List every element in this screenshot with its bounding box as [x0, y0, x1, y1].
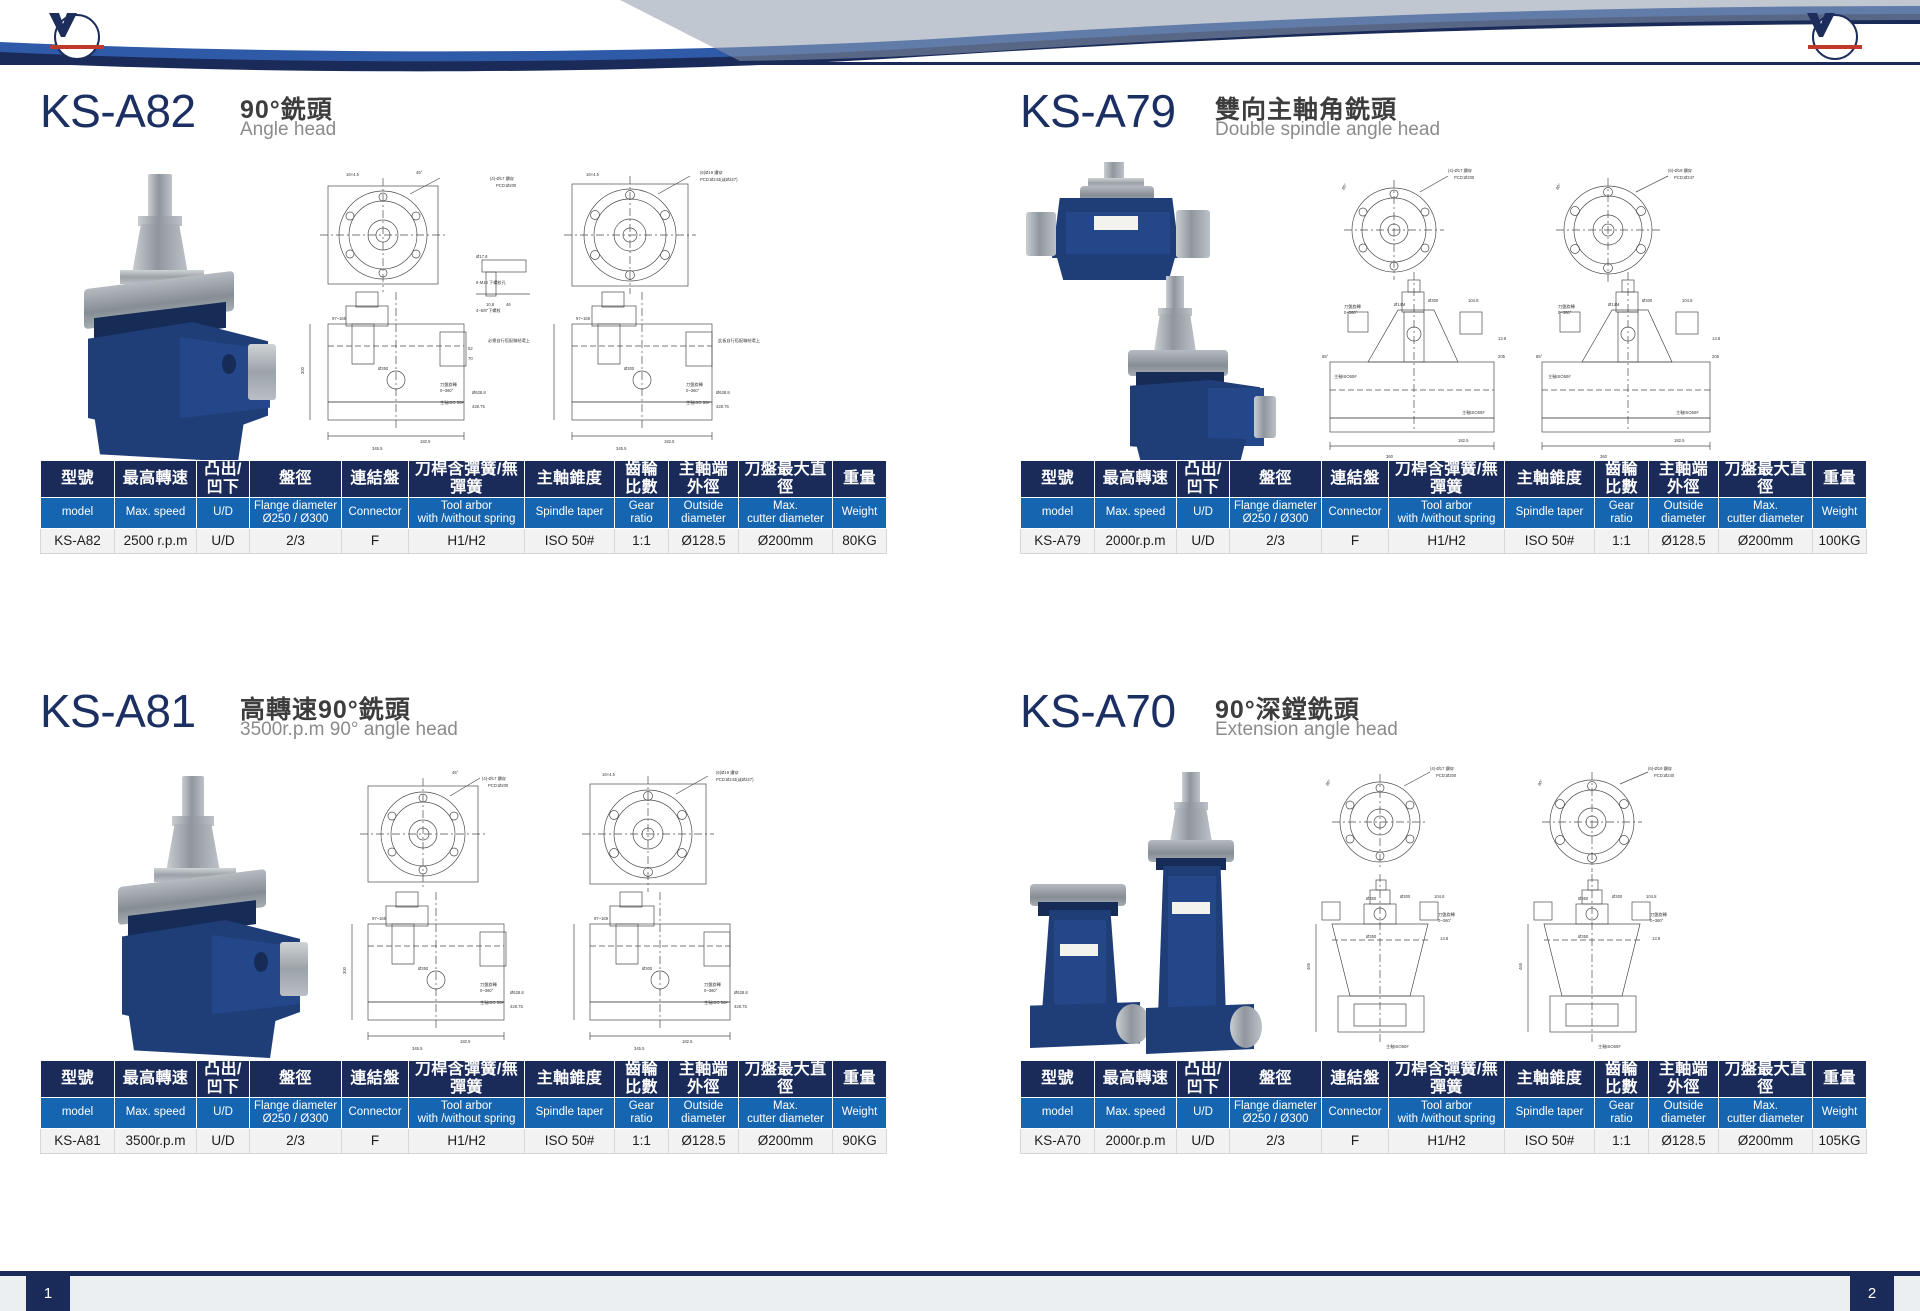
spec-th-cn: 最高轉速	[1095, 1061, 1177, 1098]
spec-cell-gear-ratio: 1:1	[1595, 1128, 1649, 1153]
svg-text:80°: 80°	[1341, 182, 1349, 190]
spec-th-cn: 刀桿含彈簧/無彈簧	[409, 461, 525, 498]
spec-header-en: model Max. speed U/D Flange diameterØ250…	[1021, 1097, 1867, 1128]
spec-th-en: Weight	[1813, 497, 1867, 528]
spec-cell-connector: F	[1322, 1128, 1389, 1153]
spec-th-en: Flange diameterØ250 / Ø300	[1230, 497, 1322, 528]
svg-text:182.5: 182.5	[1674, 438, 1685, 443]
spec-th-cn: 主軸端外徑	[1649, 1061, 1719, 1098]
spec-th-en: Connector	[342, 497, 409, 528]
svg-text:PCD:Ø243(或Ø247): PCD:Ø243(或Ø247)	[700, 176, 738, 182]
svg-text:45°: 45°	[452, 770, 459, 775]
svg-text:PCD:Ø243(或Ø247): PCD:Ø243(或Ø247)	[716, 776, 754, 782]
product-title-en: 3500r.p.m 90° angle head	[240, 719, 458, 741]
svg-text:(6)Ø19 鑽穿: (6)Ø19 鑽穿	[700, 169, 723, 176]
svg-text:85°: 85°	[1536, 354, 1543, 359]
spec-th-en: U/D	[1177, 497, 1230, 528]
spec-th-en: Spindle taper	[525, 497, 615, 528]
spec-th-en: U/D	[1177, 1097, 1230, 1128]
spec-th-cn: 主軸端外徑	[669, 1061, 739, 1098]
svg-text:Ø300: Ø300	[1428, 298, 1439, 303]
spec-cell-flange: 2/3	[1230, 528, 1322, 553]
technical-drawing-plan-views: 45° (4)-Ø17 鑽穿 PCD:Ø200 16×4.5 (6)Ø19 鑽穿…	[340, 764, 772, 1059]
product-section-ks-a70: KS-A70 90°深鏜銑頭 Extension angle head	[1020, 688, 1760, 1248]
svg-text:0~360°: 0~360°	[686, 388, 700, 393]
page-number-left: 1	[26, 1276, 70, 1311]
spec-th-cn: 重量	[833, 1061, 887, 1098]
svg-text:300: 300	[300, 366, 305, 374]
spec-th-en: model	[1021, 1097, 1095, 1128]
spec-cell-connector: F	[342, 1128, 409, 1153]
svg-text:97~169: 97~169	[576, 316, 591, 321]
svg-text:465: 465	[1306, 962, 1311, 970]
spec-th-en: Max.cutter diameter	[1719, 497, 1813, 528]
spec-th-cn: 連結盤	[1322, 461, 1389, 498]
spec-cell-ud: U/D	[1177, 528, 1230, 553]
product-section-ks-a81: KS-A81 高轉速90°銑頭 3500r.p.m 90° angle head	[40, 688, 780, 1248]
svg-text:刀盤旋轉: 刀盤旋轉	[686, 381, 704, 388]
svg-text:360: 360	[1600, 454, 1608, 459]
svg-text:182.5: 182.5	[460, 1039, 471, 1044]
spec-header-cn: 型號 最高轉速 凸出/凹下 盤徑 連結盤 刀桿含彈簧/無彈簧 主軸錐度 齒輪比數…	[41, 1061, 887, 1098]
spec-header-en: model Max. speed U/D Flange diameterØ250…	[41, 497, 887, 528]
company-logo-right	[1806, 12, 1868, 62]
svg-text:4~5/8"下螺紋: 4~5/8"下螺紋	[476, 307, 501, 314]
spec-cell-spindle-taper: ISO 50#	[525, 1128, 615, 1153]
svg-text:0~360°: 0~360°	[704, 988, 718, 993]
spec-th-en: Weight	[833, 1097, 887, 1128]
spec-th-cn: 凸出/凹下	[197, 1061, 250, 1098]
svg-text:主軸ISO50#: 主軸ISO50#	[1548, 373, 1571, 380]
spec-cell-weight: 80KG	[833, 528, 887, 553]
spec-th-cn: 主軸錐度	[1505, 1061, 1595, 1098]
spec-cell-connector: F	[342, 528, 409, 553]
spec-th-en: Tool arborwith /without spring	[409, 1097, 525, 1128]
svg-text:13.8: 13.8	[1498, 336, 1507, 341]
svg-text:13.8: 13.8	[1440, 936, 1449, 941]
svg-text:80°: 80°	[1555, 182, 1563, 190]
product-photo-upper	[1026, 162, 1226, 292]
svg-text:104.8: 104.8	[1434, 894, 1445, 899]
svg-text:428.75: 428.75	[510, 1004, 523, 1009]
spec-cell-model: KS-A82	[41, 528, 115, 553]
spec-th-en: Gearratio	[1595, 1097, 1649, 1128]
svg-text:此板自行搭配聯結環上: 此板自行搭配聯結環上	[718, 337, 760, 344]
svg-text:52: 52	[468, 346, 473, 351]
svg-text:刀盤旋轉: 刀盤旋轉	[704, 981, 722, 988]
product-figures: 45° (4)-Ø17 鑽穿 PCD:Ø200 16×4.5 (6)Ø19 鑽穿…	[40, 754, 780, 1064]
svg-text:(4)-Ø17 鑽穿: (4)-Ø17 鑽穿	[490, 175, 514, 182]
svg-text:428.75: 428.75	[472, 404, 485, 409]
spec-th-cn: 連結盤	[342, 1061, 409, 1098]
svg-text:428.75: 428.75	[716, 404, 729, 409]
spec-th-en: Outsidediameter	[669, 497, 739, 528]
spec-header-cn: 型號 最高轉速 凸出/凹下 盤徑 連結盤 刀桿含彈簧/無彈簧 主軸錐度 齒輪比數…	[1021, 1061, 1867, 1098]
svg-text:46: 46	[506, 302, 511, 307]
spec-th-cn: 型號	[1021, 461, 1095, 498]
svg-text:345.5: 345.5	[412, 1046, 423, 1051]
svg-text:主軸ISO50#: 主軸ISO50#	[1676, 409, 1699, 416]
spec-th-cn: 連結盤	[1322, 1061, 1389, 1098]
svg-text:0~360°: 0~360°	[1344, 310, 1358, 315]
svg-text:(6)-Ø19 鑽穿: (6)-Ø19 鑽穿	[1668, 167, 1692, 174]
spec-cell-spindle-taper: ISO 50#	[525, 528, 615, 553]
spec-cell-weight: 100KG	[1813, 528, 1867, 553]
spec-cell-weight: 105KG	[1813, 1128, 1867, 1153]
product-title-row: KS-A82 90°銑頭 Angle head	[40, 88, 780, 150]
spec-th-cn: 連結盤	[342, 461, 409, 498]
svg-text:主軸ISO50#: 主軸ISO50#	[1598, 1043, 1621, 1050]
product-model-code: KS-A70	[1020, 684, 1176, 738]
spec-th-en: Tool arborwith /without spring	[1389, 497, 1505, 528]
spec-th-en: U/D	[197, 1097, 250, 1128]
spec-th-cn: 重量	[833, 461, 887, 498]
product-model-code: KS-A81	[40, 684, 196, 738]
spec-table-ks-a81: 型號 最高轉速 凸出/凹下 盤徑 連結盤 刀桿含彈簧/無彈簧 主軸錐度 齒輪比數…	[40, 1060, 766, 1154]
spec-th-cn: 盤徑	[1230, 461, 1322, 498]
svg-text:Ø300: Ø300	[642, 966, 653, 971]
spec-th-cn: 齒輪比數	[1595, 461, 1649, 498]
spec-th-en: Outsidediameter	[1649, 1097, 1719, 1128]
spec-header-en: model Max. speed U/D Flange diameterØ250…	[41, 1097, 887, 1128]
spec-th-cn: 主軸錐度	[1505, 461, 1595, 498]
spec-th-cn: 刀桿含彈簧/無彈簧	[1389, 1061, 1505, 1098]
spec-th-cn: 刀桿含彈簧/無彈簧	[409, 1061, 525, 1098]
spec-cell-spindle-taper: ISO 50#	[1505, 1128, 1595, 1153]
svg-text:主軸ISO50#: 主軸ISO50#	[1334, 373, 1357, 380]
svg-text:345.5: 345.5	[634, 1046, 645, 1051]
spec-th-cn: 型號	[1021, 1061, 1095, 1098]
spec-th-cn: 主軸端外徑	[1649, 461, 1719, 498]
svg-text:104.8: 104.8	[1468, 298, 1479, 303]
spec-cell-tool-arbor: H1/H2	[409, 528, 525, 553]
spec-th-cn: 型號	[41, 461, 115, 498]
spec-cell-model: KS-A79	[1021, 528, 1095, 553]
spec-th-en: Gearratio	[615, 1097, 669, 1128]
spec-th-en: Max.cutter diameter	[1719, 1097, 1813, 1128]
svg-text:10,8: 10,8	[486, 302, 495, 307]
spec-th-cn: 齒輪比數	[615, 461, 669, 498]
svg-text:Ø300: Ø300	[1400, 894, 1411, 899]
spec-th-cn: 刀盤最大直徑	[739, 461, 833, 498]
svg-text:刀盤旋轉: 刀盤旋轉	[1438, 911, 1456, 918]
spec-cell-max-speed: 2000r.p.m	[1095, 1128, 1177, 1153]
technical-drawing-plan-views: (4)-Ø17 鑽穿 PCD:Ø200 (6)-Ø19 鑽穿 PCD:Ø247 …	[1308, 162, 1750, 462]
spec-cell-model: KS-A81	[41, 1128, 115, 1153]
svg-text:(6)Ø19 鑽穿: (6)Ø19 鑽穿	[716, 769, 739, 776]
spec-th-en: Spindle taper	[525, 1097, 615, 1128]
spec-data-row: KS-A79 2000r.p.m U/D 2/3 F H1/H2 ISO 50#…	[1021, 528, 1867, 553]
svg-text:PCD:Ø240: PCD:Ø240	[1654, 773, 1675, 778]
svg-text:Ø350: Ø350	[1578, 934, 1589, 939]
spec-th-en: Connector	[1322, 1097, 1389, 1128]
svg-text:13.8: 13.8	[1652, 936, 1661, 941]
spec-th-cn: 重量	[1813, 1061, 1867, 1098]
svg-text:205: 205	[1712, 354, 1720, 359]
spec-th-en: Gearratio	[1595, 497, 1649, 528]
svg-text:Ø350: Ø350	[418, 966, 429, 971]
svg-text:Ø300: Ø300	[1612, 894, 1623, 899]
svg-text:80°: 80°	[1537, 778, 1545, 786]
company-logo-left	[48, 12, 110, 62]
svg-text:Ø628.8: Ø628.8	[472, 390, 486, 395]
product-title-en: Angle head	[240, 119, 336, 141]
technical-drawing-plan-views: (4)-Ø17 鑽穿 PCD:Ø200 (6)-Ø19 鑽穿 PCD:Ø240 …	[1280, 764, 1750, 1064]
page-header	[0, 0, 1920, 78]
svg-text:PCD:Ø200: PCD:Ø200	[1436, 773, 1457, 778]
spec-th-en: Weight	[1813, 1097, 1867, 1128]
spec-th-cn: 盤徑	[1230, 1061, 1322, 1098]
page-number-right: 2	[1850, 1276, 1894, 1311]
product-figures: (4)-Ø17 鑽穿 PCD:Ø200 (6)-Ø19 鑽穿 PCD:Ø247 …	[1020, 154, 1760, 464]
svg-text:16×4.5: 16×4.5	[586, 172, 600, 177]
svg-text:Ø350: Ø350	[1366, 934, 1377, 939]
svg-text:465: 465	[1518, 962, 1523, 970]
spec-th-en: U/D	[197, 497, 250, 528]
spec-header-cn: 型號 最高轉速 凸出/凹下 盤徑 連結盤 刀桿含彈簧/無彈簧 主軸錐度 齒輪比數…	[1021, 461, 1867, 498]
svg-text:97~169: 97~169	[372, 916, 387, 921]
svg-text:Ø628.8: Ø628.8	[734, 990, 748, 995]
svg-text:Ø350: Ø350	[1578, 896, 1589, 901]
product-figures: 16×4.5 45° (4)-Ø17 鑽穿 PCD:Ø200 16×4.5 (6…	[40, 154, 780, 464]
svg-text:PCD:Ø247: PCD:Ø247	[1674, 175, 1695, 180]
spec-cell-ud: U/D	[1177, 1128, 1230, 1153]
spec-cell-ud: U/D	[197, 528, 250, 553]
spec-th-cn: 齒輪比數	[615, 1061, 669, 1098]
spec-th-en: Spindle taper	[1505, 497, 1595, 528]
logo-underline	[1808, 45, 1862, 49]
product-title-row: KS-A70 90°深鏜銑頭 Extension angle head	[1215, 688, 1760, 750]
catalog-page: KS-A82 90°銑頭 Angle head	[0, 0, 1920, 1311]
spec-cell-max-cutter: Ø200mm	[1719, 528, 1813, 553]
svg-text:刀盤旋轉: 刀盤旋轉	[480, 981, 498, 988]
product-section-ks-a82: KS-A82 90°銑頭 Angle head	[40, 88, 780, 648]
svg-text:Ø628.8: Ø628.8	[510, 990, 524, 995]
svg-text:345.5: 345.5	[616, 446, 627, 451]
spec-th-en: Gearratio	[615, 497, 669, 528]
svg-text:97~169: 97~169	[594, 916, 609, 921]
footer-accent-bar	[0, 1271, 1920, 1276]
svg-text:Ø300: Ø300	[624, 366, 635, 371]
spec-data-row: KS-A70 2000r.p.m U/D 2/3 F H1/H2 ISO 50#…	[1021, 1128, 1867, 1153]
spec-th-cn: 型號	[41, 1061, 115, 1098]
spec-cell-gear-ratio: 1:1	[1595, 528, 1649, 553]
svg-text:182.5: 182.5	[664, 439, 675, 444]
svg-text:205: 205	[1498, 354, 1506, 359]
svg-text:刀盤旋轉: 刀盤旋轉	[440, 381, 458, 388]
spec-th-en: Flange diameterØ250 / Ø300	[250, 497, 342, 528]
spec-th-en: Flange diameterØ250 / Ø300	[250, 1097, 342, 1128]
spec-th-en: Tool arborwith /without spring	[1389, 1097, 1505, 1128]
svg-text:主軸ISO 50#: 主軸ISO 50#	[440, 399, 464, 406]
svg-text:0~360°: 0~360°	[440, 388, 454, 393]
spec-th-cn: 重量	[1813, 461, 1867, 498]
spec-th-en: Connector	[342, 1097, 409, 1128]
svg-text:刀盤旋轉: 刀盤旋轉	[1558, 303, 1576, 310]
spec-th-cn: 主軸錐度	[525, 461, 615, 498]
svg-text:0~360°: 0~360°	[1438, 918, 1452, 923]
svg-text:刀盤旋轉: 刀盤旋轉	[1650, 911, 1668, 918]
svg-text:Ø350: Ø350	[378, 366, 389, 371]
spec-th-cn: 最高轉速	[115, 1061, 197, 1098]
svg-text:PCD:Ø200: PCD:Ø200	[488, 783, 509, 788]
spec-th-cn: 齒輪比數	[1595, 1061, 1649, 1098]
svg-text:300: 300	[342, 966, 347, 974]
spec-cell-connector: F	[1322, 528, 1389, 553]
svg-text:Ø14M: Ø14M	[1394, 302, 1406, 307]
svg-text:13.8: 13.8	[1712, 336, 1721, 341]
spec-data-row: KS-A81 3500r.p.m U/D 2/3 F H1/H2 ISO 50#…	[41, 1128, 887, 1153]
spec-th-en: Spindle taper	[1505, 1097, 1595, 1128]
spec-th-en: Tool arborwith /without spring	[409, 497, 525, 528]
product-figures: (4)-Ø17 鑽穿 PCD:Ø200 (6)-Ø19 鑽穿 PCD:Ø240 …	[1020, 754, 1760, 1064]
svg-text:Ø300: Ø300	[1642, 298, 1653, 303]
product-photo-right	[1130, 772, 1260, 1062]
svg-text:85°: 85°	[1322, 354, 1329, 359]
spec-th-cn: 最高轉速	[115, 461, 197, 498]
svg-text:主軸ISO 50#: 主軸ISO 50#	[686, 399, 710, 406]
svg-text:0~360°: 0~360°	[480, 988, 494, 993]
svg-text:182.5: 182.5	[1458, 438, 1469, 443]
svg-text:主軸ISO50#: 主軸ISO50#	[1462, 409, 1485, 416]
logo-mark-icon	[48, 12, 78, 38]
product-title-row: KS-A79 雙向主軸角銑頭 Double spindle angle head	[1215, 88, 1760, 150]
spec-cell-outside-diameter: Ø128.5	[669, 1128, 739, 1153]
spec-th-en: Outsidediameter	[669, 1097, 739, 1128]
product-title-en: Extension angle head	[1215, 719, 1398, 741]
spec-cell-max-speed: 2000r.p.m	[1095, 528, 1177, 553]
product-model-code: KS-A79	[1020, 84, 1176, 138]
spec-cell-gear-ratio: 1:1	[615, 1128, 669, 1153]
spec-th-cn: 刀盤最大直徑	[1719, 461, 1813, 498]
svg-text:主軸ISO 50#: 主軸ISO 50#	[704, 999, 728, 1006]
spec-th-cn: 盤徑	[250, 461, 342, 498]
spec-cell-tool-arbor: H1/H2	[1389, 528, 1505, 553]
svg-text:Ø350: Ø350	[1366, 896, 1377, 901]
svg-text:(4)-Ø17 鑽穿: (4)-Ø17 鑽穿	[1448, 167, 1472, 174]
svg-text:80°: 80°	[1325, 778, 1333, 786]
spec-cell-outside-diameter: Ø128.5	[1649, 528, 1719, 553]
product-section-ks-a79: KS-A79 雙向主軸角銑頭 Double spindle angle head	[1020, 88, 1760, 648]
spec-cell-spindle-taper: ISO 50#	[1505, 528, 1595, 553]
spec-header-en: model Max. speed U/D Flange diameterØ250…	[1021, 497, 1867, 528]
spec-cell-max-cutter: Ø200mm	[1719, 1128, 1813, 1153]
spec-cell-flange: 2/3	[250, 528, 342, 553]
spec-table-ks-a82: 型號 最高轉速 凸出/凹下 盤徑 連結盤 刀桿含彈簧/無彈簧 主軸錐度 齒輪比數…	[40, 460, 766, 554]
spec-th-cn: 主軸端外徑	[669, 461, 739, 498]
svg-text:16×4.5: 16×4.5	[602, 772, 616, 777]
svg-text:104.8: 104.8	[1682, 298, 1693, 303]
spec-table-ks-a70: 型號 最高轉速 凸出/凹下 盤徑 連結盤 刀桿含彈簧/無彈簧 主軸錐度 齒輪比數…	[1020, 1060, 1746, 1154]
spec-th-cn: 凸出/凹下	[197, 461, 250, 498]
spec-th-cn: 凸出/凹下	[1177, 1061, 1230, 1098]
svg-text:16×4.5: 16×4.5	[346, 172, 360, 177]
logo-mark-icon	[1806, 12, 1836, 38]
spec-th-cn: 刀桿含彈簧/無彈簧	[1389, 461, 1505, 498]
svg-text:刀盤旋轉: 刀盤旋轉	[1344, 303, 1362, 310]
svg-text:(6)-Ø19 鑽穿: (6)-Ø19 鑽穿	[1648, 765, 1672, 772]
header-swoosh-graphic	[0, 0, 1920, 78]
spec-cell-gear-ratio: 1:1	[615, 528, 669, 553]
spec-cell-max-cutter: Ø200mm	[739, 1128, 833, 1153]
spec-th-en: Weight	[833, 497, 887, 528]
product-photo	[60, 174, 275, 464]
spec-th-en: model	[41, 1097, 115, 1128]
spec-th-en: Max.cutter diameter	[739, 1097, 833, 1128]
spec-table-ks-a79: 型號 最高轉速 凸出/凹下 盤徑 連結盤 刀桿含彈簧/無彈簧 主軸錐度 齒輪比數…	[1020, 460, 1746, 554]
spec-th-en: model	[1021, 497, 1095, 528]
spec-th-en: Outsidediameter	[1649, 497, 1719, 528]
spec-cell-outside-diameter: Ø128.5	[669, 528, 739, 553]
spec-cell-weight: 90KG	[833, 1128, 887, 1153]
svg-text:Ø17.8: Ø17.8	[476, 254, 488, 259]
svg-text:0~360°: 0~360°	[1650, 918, 1664, 923]
product-photo	[90, 776, 310, 1061]
svg-text:0~360°: 0~360°	[1558, 310, 1572, 315]
spec-cell-tool-arbor: H1/H2	[409, 1128, 525, 1153]
spec-th-en: Max. speed	[115, 497, 197, 528]
technical-drawing-plan-views: 16×4.5 45° (4)-Ø17 鑽穿 PCD:Ø200 16×4.5 (6…	[290, 164, 770, 459]
spec-cell-max-speed: 2500 r.p.m	[115, 528, 197, 553]
spec-th-cn: 最高轉速	[1095, 461, 1177, 498]
svg-text:97~169: 97~169	[332, 316, 347, 321]
svg-text:PCD:Ø200: PCD:Ø200	[1454, 175, 1475, 180]
spec-th-cn: 盤徑	[250, 1061, 342, 1098]
svg-text:(4)-Ø17 鑽穿: (4)-Ø17 鑽穿	[1430, 765, 1454, 772]
svg-text:必需自行搭配聯結環上: 必需自行搭配聯結環上	[488, 337, 530, 344]
svg-text:主軸ISO50#: 主軸ISO50#	[1386, 1043, 1409, 1050]
spec-header-cn: 型號 最高轉速 凸出/凹下 盤徑 連結盤 刀桿含彈簧/無彈簧 主軸錐度 齒輪比數…	[41, 461, 887, 498]
spec-th-en: Max. speed	[115, 1097, 197, 1128]
spec-th-en: Max. speed	[1095, 497, 1177, 528]
spec-cell-outside-diameter: Ø128.5	[1649, 1128, 1719, 1153]
product-photo-lower	[1116, 276, 1316, 466]
svg-text:PCD:Ø200: PCD:Ø200	[496, 183, 517, 188]
spec-th-en: Max.cutter diameter	[739, 497, 833, 528]
svg-text:(4)-Ø17 鑽穿: (4)-Ø17 鑽穿	[482, 775, 506, 782]
product-title-row: KS-A81 高轉速90°銑頭 3500r.p.m 90° angle head	[40, 688, 780, 750]
svg-text:6-M18 下螺紋孔: 6-M18 下螺紋孔	[476, 279, 507, 286]
svg-text:Ø14M: Ø14M	[1608, 302, 1620, 307]
svg-text:45°: 45°	[416, 170, 423, 175]
spec-cell-flange: 2/3	[1230, 1128, 1322, 1153]
spec-th-cn: 主軸錐度	[525, 1061, 615, 1098]
spec-cell-model: KS-A70	[1021, 1128, 1095, 1153]
spec-cell-tool-arbor: H1/H2	[1389, 1128, 1505, 1153]
spec-cell-flange: 2/3	[250, 1128, 342, 1153]
product-model-code: KS-A82	[40, 84, 196, 138]
svg-text:360: 360	[1386, 454, 1394, 459]
svg-text:428.75: 428.75	[734, 1004, 747, 1009]
spec-data-row: KS-A82 2500 r.p.m U/D 2/3 F H1/H2 ISO 50…	[41, 528, 887, 553]
logo-underline	[50, 45, 104, 49]
product-title-en: Double spindle angle head	[1215, 119, 1440, 141]
spec-cell-max-speed: 3500r.p.m	[115, 1128, 197, 1153]
spec-th-en: Max. speed	[1095, 1097, 1177, 1128]
svg-text:182.5: 182.5	[420, 439, 431, 444]
svg-text:70: 70	[468, 356, 473, 361]
spec-cell-max-cutter: Ø200mm	[739, 528, 833, 553]
spec-th-cn: 刀盤最大直徑	[1719, 1061, 1813, 1098]
spec-th-en: model	[41, 497, 115, 528]
svg-text:345.5: 345.5	[372, 446, 383, 451]
svg-text:主軸ISO 50#: 主軸ISO 50#	[480, 999, 504, 1006]
svg-text:104.8: 104.8	[1646, 894, 1657, 899]
spec-th-cn: 刀盤最大直徑	[739, 1061, 833, 1098]
spec-th-en: Connector	[1322, 497, 1389, 528]
spec-cell-ud: U/D	[197, 1128, 250, 1153]
svg-text:182.5: 182.5	[682, 1039, 693, 1044]
